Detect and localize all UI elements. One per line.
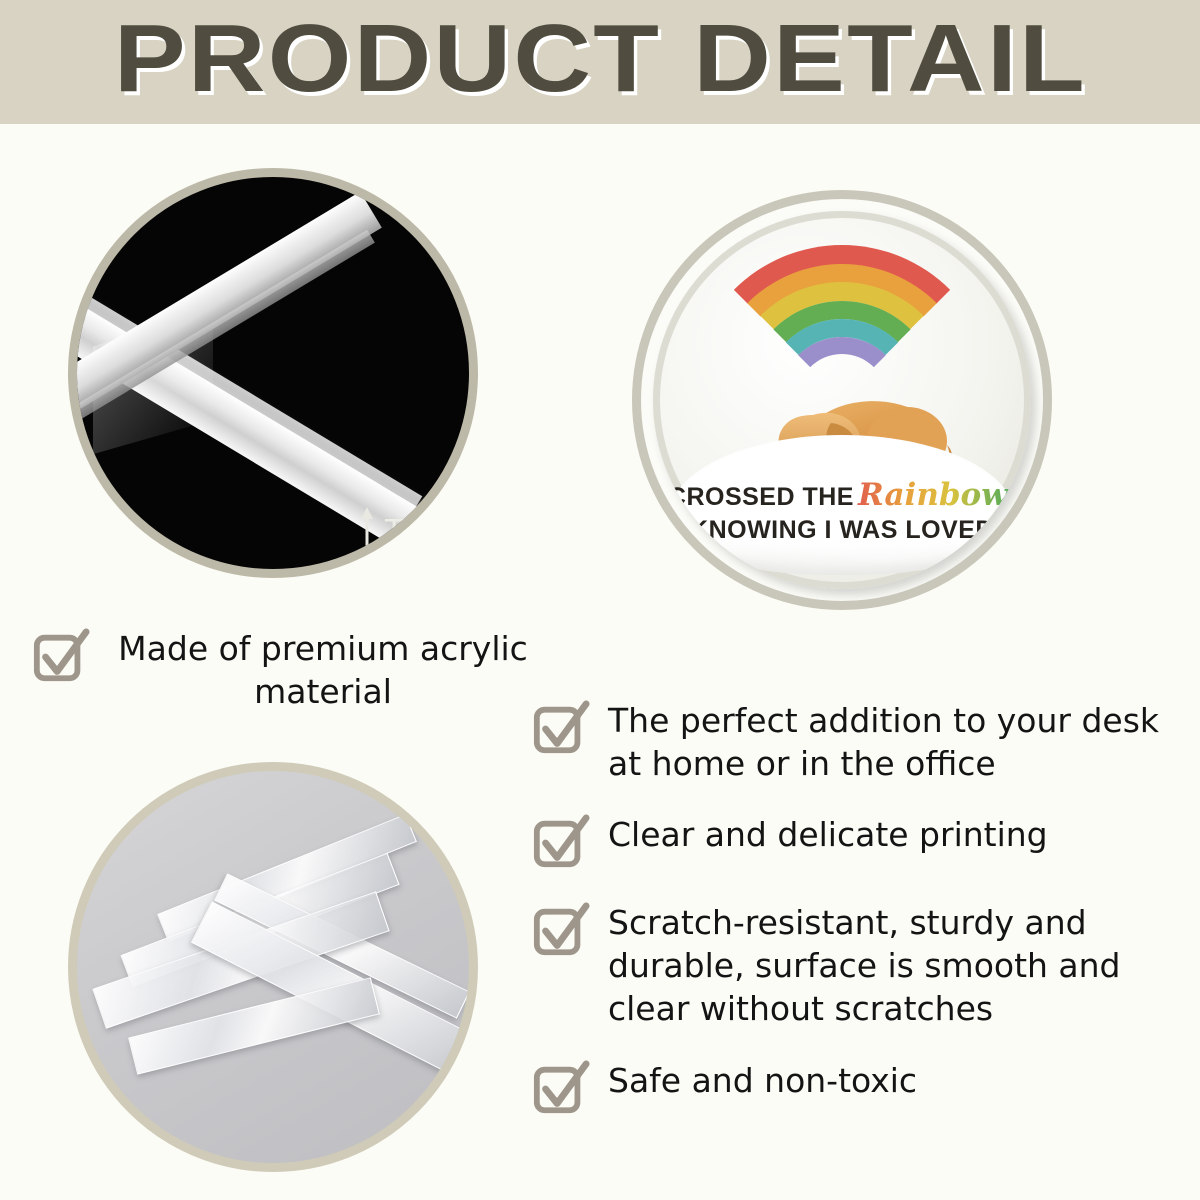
feature-label: Scratch-resistant, sturdy and durable, s… <box>608 902 1182 1031</box>
checkbox-checked-icon <box>32 628 90 686</box>
page-title: PRODUCT DETAIL <box>113 11 1086 113</box>
caption-script: Rainbow Bridge <box>854 477 1031 513</box>
thickness-label: Thickness 0.55 in <box>385 513 478 578</box>
feature-item: Scratch-resistant, sturdy and durable, s… <box>532 902 1182 1031</box>
ornament-caption: I CROSSED THERainbow Bridge KNOWING I WA… <box>653 477 1031 545</box>
feature-list: The perfect addition to your desk at hom… <box>532 700 1182 1146</box>
header-band: PRODUCT DETAIL <box>0 0 1200 124</box>
acrylic-slabs-photo <box>68 762 478 1172</box>
feature-item: Safe and non-toxic <box>532 1060 1182 1118</box>
thickness-callout: Thickness 0.55 in <box>359 507 478 578</box>
checkbox-checked-icon <box>532 902 590 960</box>
acrylic-disc: I CROSSED THERainbow Bridge KNOWING I WA… <box>653 211 1031 589</box>
caption-line-2: KNOWING I WAS LOVED <box>653 515 1031 546</box>
checkbox-checked-icon <box>532 1060 590 1118</box>
feature-item: Clear and delicate printing <box>532 814 1182 872</box>
caption-line-1: I CROSSED THERainbow Bridge <box>653 477 1031 515</box>
feature-item: The perfect addition to your desk at hom… <box>532 700 1182 786</box>
feature-label: Made of premium acrylic material <box>108 628 538 714</box>
feature-label: The perfect addition to your desk at hom… <box>608 700 1182 786</box>
checkbox-checked-icon <box>532 700 590 758</box>
feature-item-material: Made of premium acrylic material <box>32 628 552 714</box>
ornament-photo: I CROSSED THERainbow Bridge KNOWING I WA… <box>632 190 1052 610</box>
feature-label: Clear and delicate printing <box>608 814 1048 857</box>
feature-label: Safe and non-toxic <box>608 1060 917 1103</box>
checkbox-checked-icon <box>532 814 590 872</box>
caption-prefix: I CROSSED THE <box>653 483 854 511</box>
acrylic-edge-photo: Thickness 0.55 in <box>68 168 478 578</box>
double-arrow-icon <box>359 507 375 578</box>
